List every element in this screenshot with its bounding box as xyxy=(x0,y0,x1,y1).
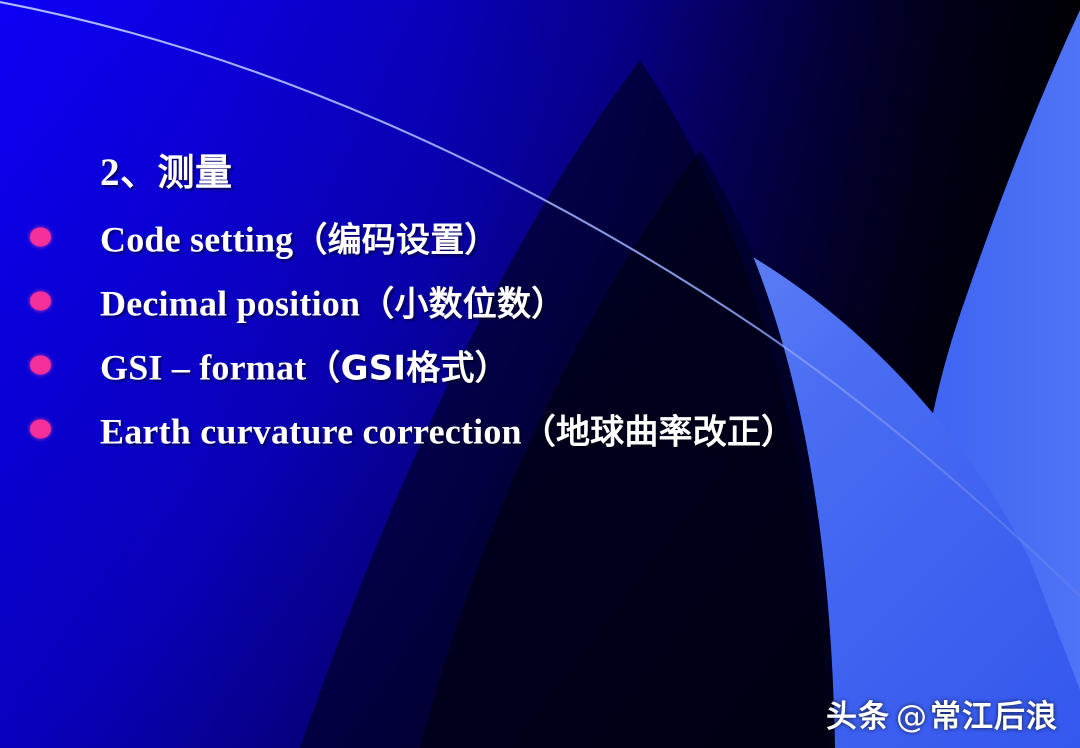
bullet-dot-icon xyxy=(30,292,51,311)
bullet-text-code-setting: Code setting（编码设置） xyxy=(100,213,499,262)
list-item[interactable]: Decimal position（小数位数） xyxy=(0,269,1080,333)
page-title-number: 2 xyxy=(100,151,120,194)
bullet-list: Code setting（编码设置） Decimal position（小数位数… xyxy=(0,205,1080,461)
list-item[interactable]: Code setting（编码设置） xyxy=(0,205,1080,269)
list-item[interactable]: GSI – format（GSI格式） xyxy=(0,333,1080,397)
bullet-dot-icon xyxy=(30,356,51,375)
bullet-text-decimal-position: Decimal position（小数位数） xyxy=(100,277,565,326)
bullet-dot-icon xyxy=(30,420,51,439)
bullet-text-earth-curvature-correction: Earth curvature correction（地球曲率改正） xyxy=(100,405,795,454)
watermark-brand: 头条 xyxy=(826,699,890,735)
bullet-dot-icon xyxy=(30,228,51,247)
bullet-latin: Earth curvature correction xyxy=(100,412,522,452)
page-title-cjk: 、测量 xyxy=(120,151,233,194)
bullet-cjk: （GSI格式） xyxy=(306,349,508,389)
slide-content: 2、测量 Code setting（编码设置） Decimal position… xyxy=(0,0,1080,748)
list-item[interactable]: Earth curvature correction（地球曲率改正） xyxy=(0,397,1080,461)
watermark-handle: 常江后浪 xyxy=(930,699,1058,735)
watermark-at-icon: @ xyxy=(896,699,928,735)
bullet-cjk: （地球曲率改正） xyxy=(522,413,796,453)
slide-canvas: 2、测量 Code setting（编码设置） Decimal position… xyxy=(0,0,1080,748)
bullet-latin: Decimal position xyxy=(100,284,360,324)
bullet-text-gsi-format: GSI – format（GSI格式） xyxy=(100,341,509,390)
watermark: 头条@常江后浪 xyxy=(826,691,1058,736)
bullet-cjk: （编码设置） xyxy=(293,221,498,261)
bullet-latin: GSI – format xyxy=(100,348,306,388)
bullet-latin: Code setting xyxy=(100,220,293,260)
bullet-cjk: （小数位数） xyxy=(360,285,565,325)
page-title: 2、测量 xyxy=(100,142,233,196)
